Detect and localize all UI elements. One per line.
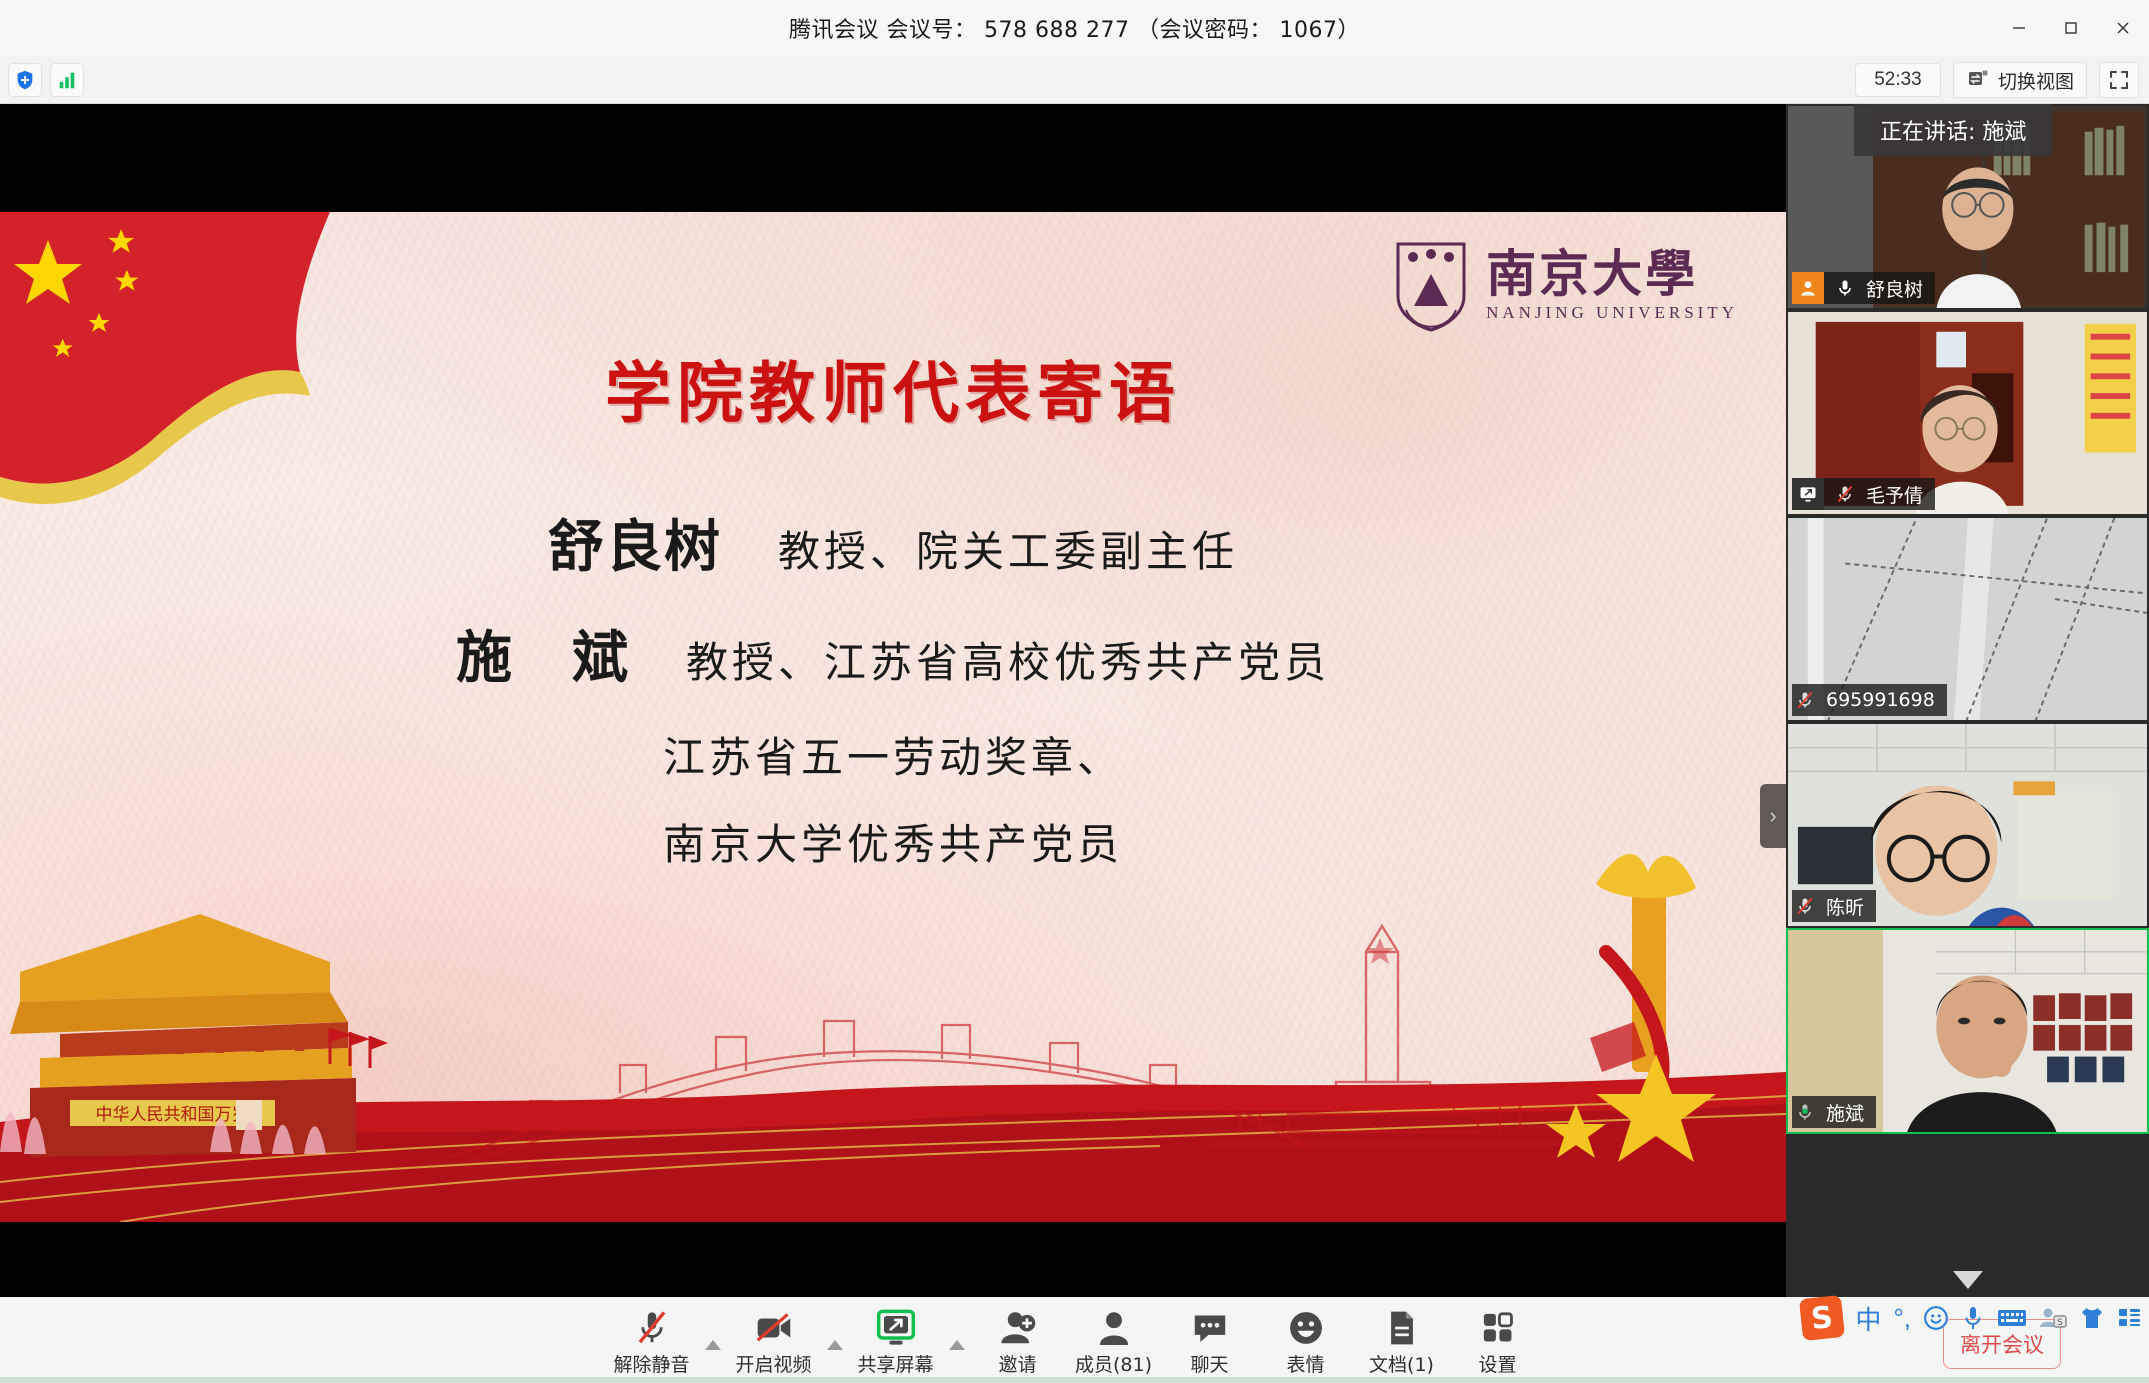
security-button[interactable] (8, 63, 42, 97)
chevron-right-icon: › (1769, 803, 1776, 829)
roster-row: 舒良树 教授、院关工委副主任 (0, 502, 1786, 583)
person-icon (1097, 1309, 1131, 1347)
mic-status (1832, 483, 1858, 505)
participant-name: 毛予倩 (1866, 481, 1923, 508)
title-bar: 腾讯会议 会议号： 578 688 277 （会议密码： 1067） (0, 0, 2149, 56)
participant-name: 695991698 (1826, 689, 1935, 711)
close-icon (2113, 18, 2133, 38)
share-screen-icon (876, 1309, 916, 1347)
nju-logo-cn: 南京大學 (1486, 249, 1738, 299)
presentation-slide: 南京大學 NANJING UNIVERSITY 学院教师代表寄语 舒良树 教授、… (0, 212, 1786, 1222)
slide-roster: 舒良树 教授、院关工委副主任 施 斌 教授、江苏省高校优秀共产党员 江苏省五一劳… (0, 502, 1786, 898)
caret-up-icon (948, 1339, 966, 1351)
toolbar-item-start-video[interactable]: 开启视频 (726, 1303, 822, 1377)
ime-toolbar: S 中 °, (1795, 1295, 2149, 1341)
collapse-panel-button[interactable]: › (1760, 784, 1786, 848)
shield-plus-icon (14, 69, 36, 91)
caret-up-icon (704, 1339, 722, 1351)
microphone-icon (1961, 1305, 1985, 1331)
switch-view-label: 切换视图 (1998, 67, 2074, 94)
mic-off-icon (1835, 483, 1855, 505)
participant-label: 陈昕 (1792, 890, 1876, 922)
ime-mode-button[interactable]: 中 (1855, 1300, 1881, 1337)
ime-screenshot-button[interactable]: S (2039, 1305, 2067, 1331)
toolbar-item-chat[interactable]: 聊天 (1162, 1303, 1258, 1377)
caret-up-icon (826, 1339, 844, 1351)
meeting-timer: 52:33 (1855, 63, 1941, 97)
switch-view-icon (1966, 68, 1990, 92)
toolbar-item-invite[interactable]: 邀请 (970, 1303, 1066, 1377)
toolbar-item-share-screen[interactable]: 共享屏幕 (848, 1303, 944, 1377)
toolbar-label: 共享屏幕 (857, 1350, 933, 1377)
chat-bubble-icon (1192, 1309, 1228, 1347)
ime-skin-button[interactable] (2079, 1305, 2105, 1331)
roster-title: 教授、院关工委副主任 (778, 518, 1238, 579)
fullscreen-icon (2107, 68, 2131, 92)
speaking-tooltip: 正在讲话: 施斌 (1854, 104, 2052, 156)
grid-icon (2117, 1305, 2143, 1331)
slide-title: 学院教师代表寄语 (0, 340, 1786, 436)
taskbar-strip (0, 1377, 2149, 1383)
screenshot-icon: S (2039, 1305, 2067, 1331)
smiley-icon (1923, 1305, 1949, 1331)
participant-tile[interactable]: 695991698 (1786, 516, 2149, 722)
participant-name: 施斌 (1826, 1099, 1864, 1126)
ime-emoji-button[interactable] (1923, 1305, 1949, 1331)
toolbar-label: 文档(1) (1369, 1350, 1434, 1377)
meeting-toolbar: 解除静音 开启视频 (0, 1297, 2149, 1383)
mic-on-icon (1795, 1101, 1815, 1123)
participant-label: 舒良树 (1792, 272, 1935, 304)
participant-tile[interactable]: 施斌 (1786, 928, 2149, 1134)
person-icon (1798, 278, 1818, 298)
scroll-down-button[interactable] (1786, 1269, 2149, 1291)
nju-logo-en: NANJING UNIVERSITY (1486, 303, 1738, 323)
mic-options-caret[interactable] (700, 1339, 726, 1377)
camera-off-icon (755, 1309, 793, 1347)
chevron-down-icon (1951, 1269, 1985, 1291)
meeting-window: 腾讯会议 会议号： 578 688 277 （会议密码： 1067） (0, 0, 2149, 1383)
subbar-left-group (0, 63, 84, 97)
mic-status (1832, 277, 1858, 299)
participant-strip: 正在讲话: 施斌 (1786, 104, 2149, 1297)
signal-bars-icon (56, 69, 78, 91)
tiananmen-banner-text: 中华人民共和国万岁 (96, 1105, 249, 1125)
nju-shield-icon (1394, 240, 1468, 332)
share-screen-icon (1798, 484, 1818, 504)
shared-screen-stage[interactable]: 南京大學 NANJING UNIVERSITY 学院教师代表寄语 舒良树 教授、… (0, 104, 1786, 1297)
huabiao-column-graphic (1536, 832, 1766, 1162)
toolbar-item-documents[interactable]: 文档(1) (1354, 1303, 1450, 1377)
avatar (1792, 272, 1824, 304)
participant-name: 舒良树 (1866, 275, 1923, 302)
participant-tile[interactable]: 陈昕 (1786, 722, 2149, 928)
ime-toolbox-button[interactable] (2117, 1305, 2143, 1331)
share-options-caret[interactable] (944, 1339, 970, 1377)
toolbar-label: 聊天 (1190, 1350, 1228, 1377)
mic-on-icon (1835, 277, 1855, 299)
participant-label: 695991698 (1792, 684, 1947, 716)
minimize-button[interactable] (1993, 0, 2045, 56)
roster-name: 施 斌 (456, 613, 686, 694)
mic-status (1792, 1101, 1818, 1123)
participant-name: 陈昕 (1826, 893, 1864, 920)
mic-off-icon (1795, 689, 1815, 711)
meeting-sub-toolbar: 52:33 切换视图 (0, 56, 2149, 104)
window-title: 腾讯会议 会议号： 578 688 277 （会议密码： 1067） (789, 12, 1360, 44)
toolbar-label: 开启视频 (735, 1350, 811, 1377)
fullscreen-button[interactable] (2099, 62, 2139, 98)
roster-continuation: 江苏省五一劳动奖章、 (0, 724, 1786, 785)
switch-view-button[interactable]: 切换视图 (1953, 62, 2087, 98)
person-add-icon (1000, 1309, 1036, 1347)
roster-name: 舒良树 (548, 502, 778, 583)
mic-status (1792, 689, 1818, 711)
video-options-caret[interactable] (822, 1339, 848, 1377)
participant-label: 毛予倩 (1792, 478, 1935, 510)
screen-share-badge (1792, 478, 1824, 510)
roster-row: 施 斌 教授、江苏省高校优秀共产党员 (0, 613, 1786, 694)
sogou-logo-icon[interactable]: S (1799, 1295, 1845, 1341)
mic-muted-icon (635, 1309, 669, 1347)
ime-keyboard-button[interactable] (1997, 1306, 2027, 1330)
keyboard-icon (1997, 1306, 2027, 1330)
toolbar-label: 表情 (1286, 1350, 1324, 1377)
toolbar-label: 设置 (1478, 1350, 1516, 1377)
toolbar-label: 成员(81) (1075, 1350, 1152, 1377)
toolbar-item-members[interactable]: 成员(81) (1066, 1303, 1162, 1377)
maximize-button[interactable] (2045, 0, 2097, 56)
close-button[interactable] (2097, 0, 2149, 56)
mic-status (1792, 895, 1818, 917)
great-wall-graphic (430, 917, 1310, 1167)
mic-off-icon (1795, 895, 1815, 917)
roster-title: 教授、江苏省高校优秀共产党员 (686, 629, 1330, 690)
participant-tile[interactable]: 毛予倩 (1786, 310, 2149, 516)
ime-voice-button[interactable] (1961, 1305, 1985, 1331)
document-icon (1387, 1309, 1417, 1347)
toolbar-item-emoji[interactable]: 表情 (1258, 1303, 1354, 1377)
ime-punctuation-button[interactable]: °, (1893, 1303, 1911, 1334)
minimize-icon (2009, 18, 2029, 38)
grid-settings-icon (1481, 1309, 1515, 1347)
nanjing-university-logo: 南京大學 NANJING UNIVERSITY (1394, 240, 1738, 332)
participant-label: 施斌 (1792, 1096, 1876, 1128)
network-status-button[interactable] (50, 63, 84, 97)
toolbar-items: 解除静音 开启视频 (604, 1303, 1546, 1377)
toolbar-label: 邀请 (998, 1350, 1036, 1377)
toolbar-label: 解除静音 (613, 1350, 689, 1377)
toolbar-item-unmute[interactable]: 解除静音 (604, 1303, 700, 1377)
window-controls (1993, 0, 2149, 56)
maximize-icon (2061, 18, 2081, 38)
subbar-right-group: 52:33 切换视图 (1855, 56, 2139, 104)
tshirt-icon (2079, 1305, 2105, 1331)
toolbar-item-settings[interactable]: 设置 (1450, 1303, 1546, 1377)
svg-text:S: S (2057, 1318, 2063, 1328)
smiley-icon (1288, 1309, 1324, 1347)
